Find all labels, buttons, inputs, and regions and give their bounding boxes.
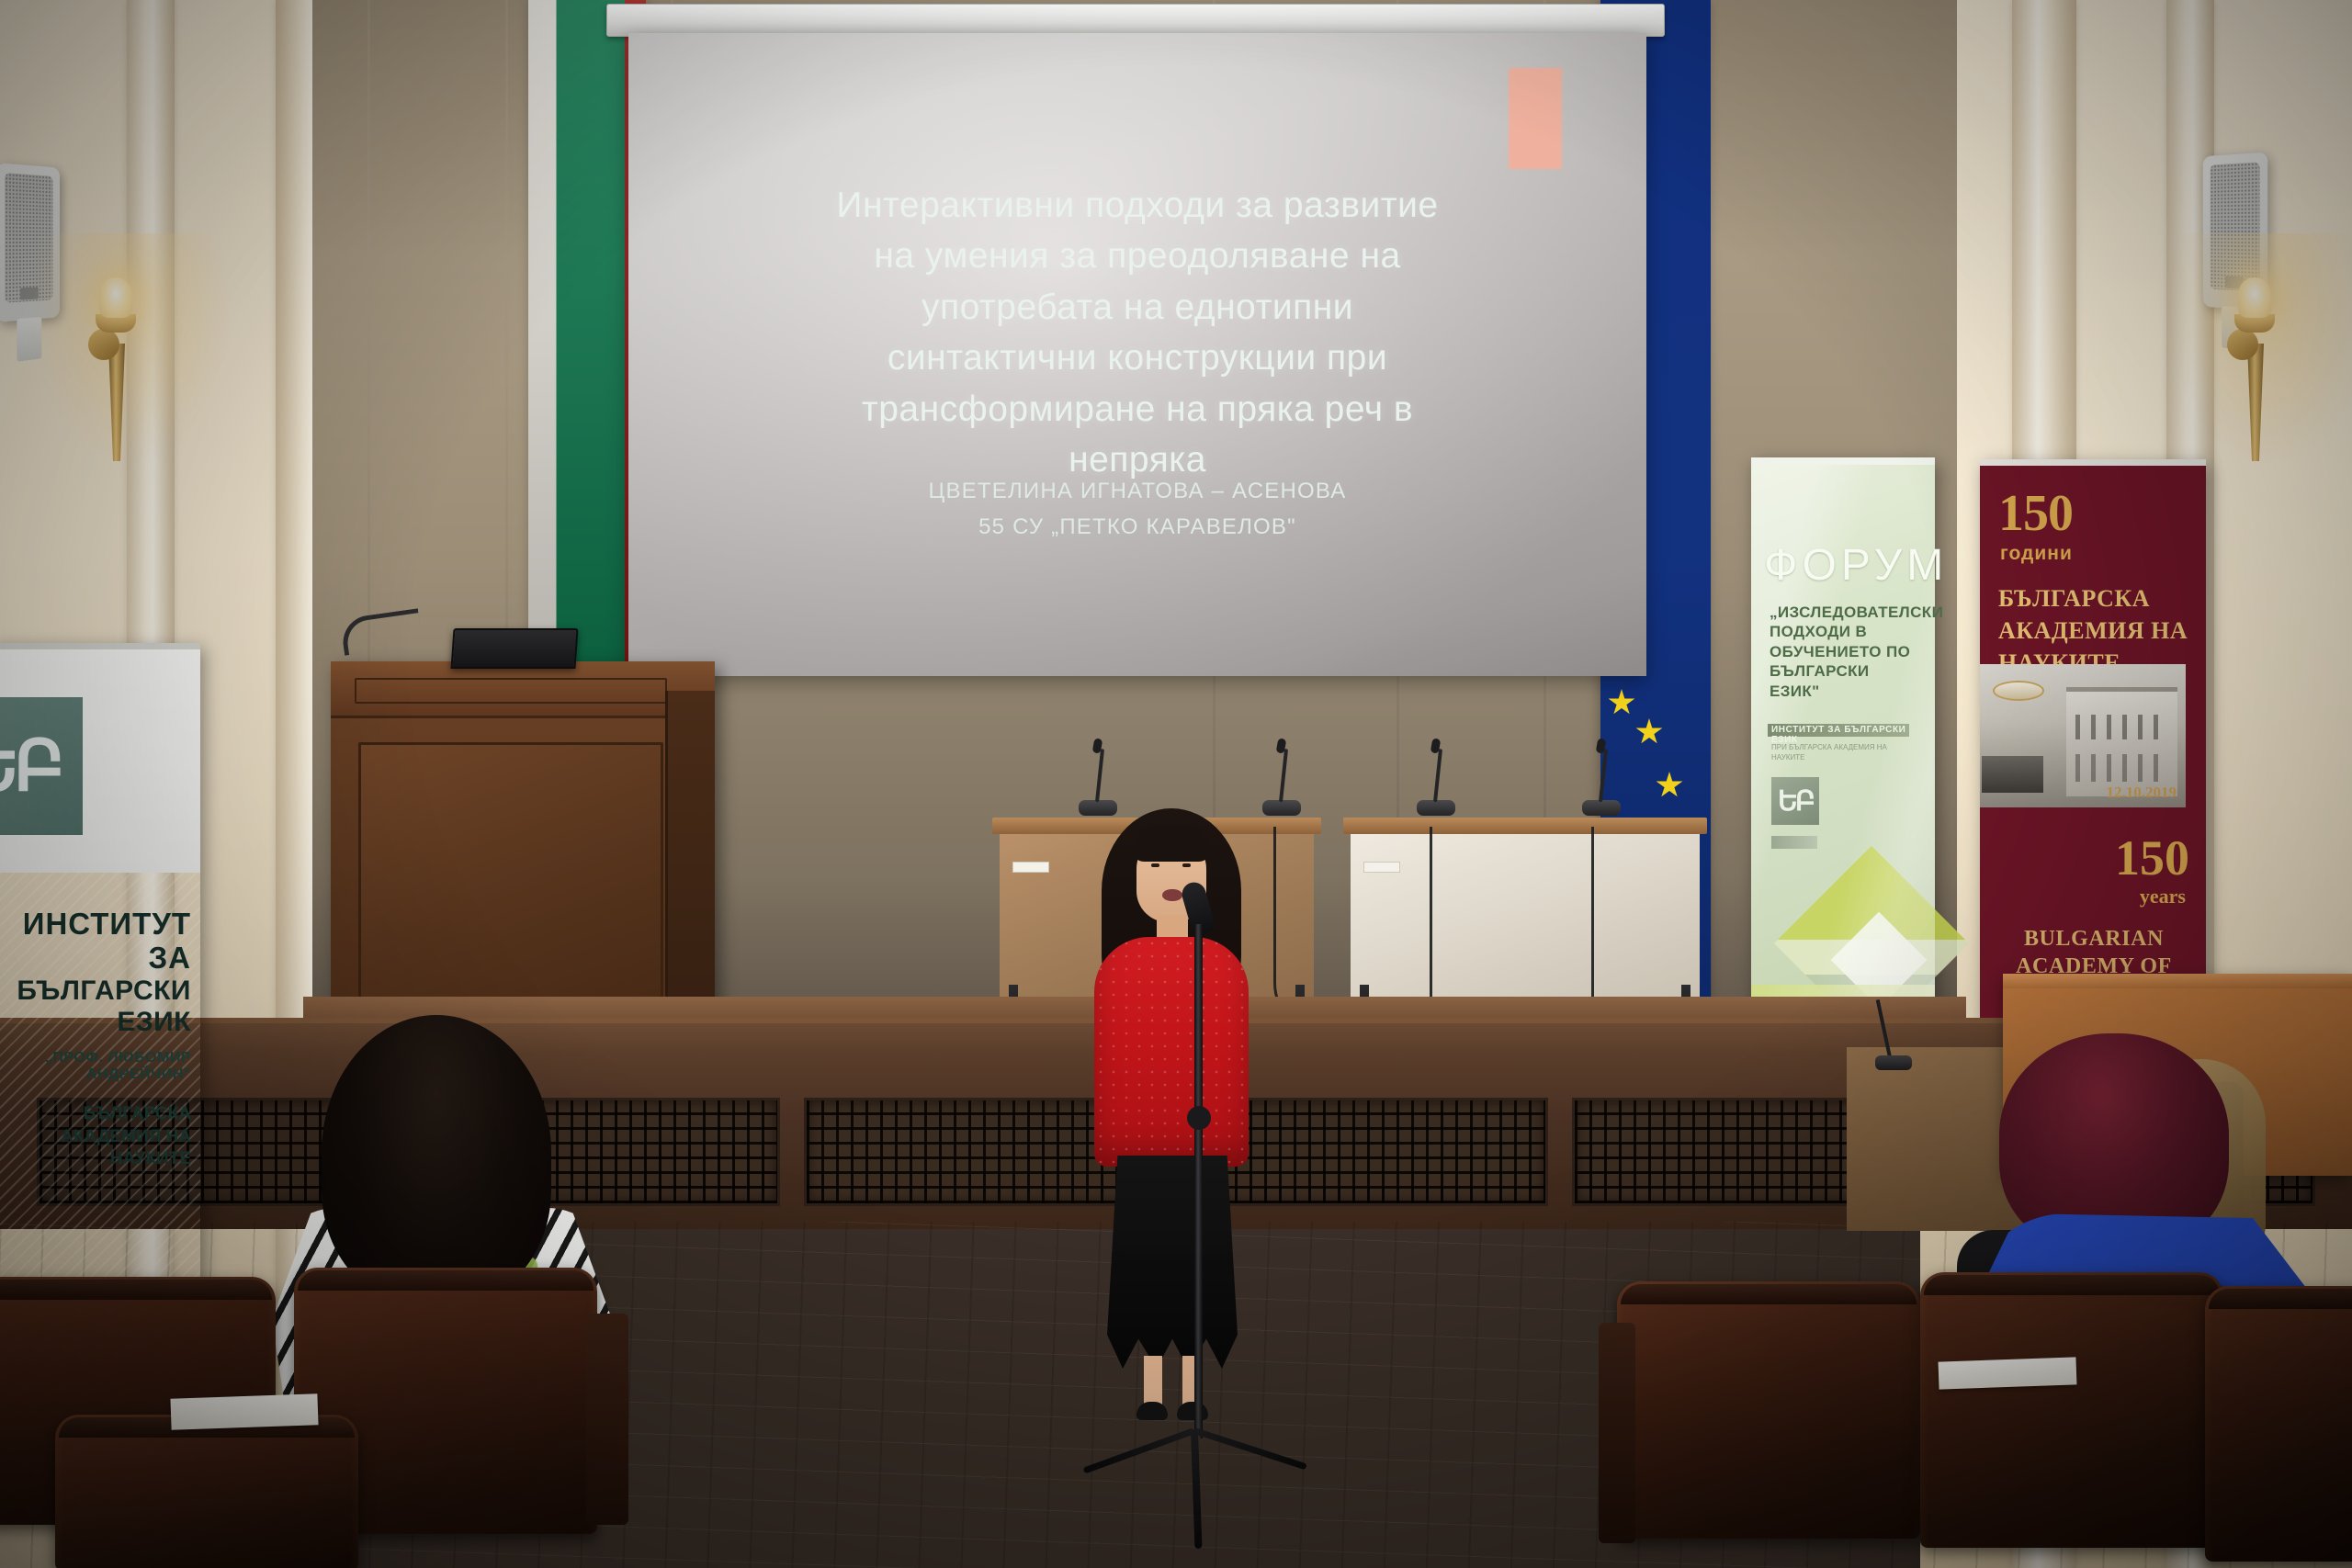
seat-armrest (1599, 1323, 1635, 1543)
gooseneck-microphone (1277, 761, 1284, 816)
banner-forum-title: ФОРУМ (1764, 540, 1926, 591)
presenter-red-top (1094, 937, 1249, 1167)
institute-logo-icon: ԵԲ (0, 697, 83, 835)
auditorium-seat (1920, 1272, 2223, 1548)
institute-line-1: ИНСТИТУТ (0, 908, 191, 942)
screen-roller-housing (606, 4, 1665, 37)
slide-affiliation: 55 СУ „ПЕТКО КАРАВЕЛОВ" (684, 510, 1591, 546)
slide-author: ЦВЕТЕЛИНА ИГНАТОВА – АСЕНОВА (684, 474, 1591, 510)
academy-event-date: 12.10.2019 (2107, 784, 2177, 802)
auditorium-seat (2205, 1286, 2352, 1562)
institute-line-2: ЗА (0, 942, 191, 976)
secondary-logo-icon (1771, 836, 1817, 849)
presenter-skirt (1107, 1156, 1238, 1369)
banner-forum: ФОРУМ „ИЗСЛЕДОВАТЕЛСКИ ПОДХОДИ В ОБУЧЕНИ… (1751, 457, 1935, 1009)
banner-forum-institute-sub: ПРИ БЪЛГАРСКА АКАДЕМИЯ НА НАУКИТЕ (1771, 743, 1913, 763)
seat-papers (170, 1393, 318, 1430)
presenter-laptop (450, 628, 578, 669)
institute-line-3: БЪЛГАРСКИ ЕЗИК (0, 976, 191, 1039)
ibl-logo-icon: ԵԲ (1771, 777, 1819, 825)
academy-anniversary-number-en: 150 (2115, 833, 2189, 883)
audience-right-hair (1999, 1033, 2229, 1245)
academy-anniversary-years-en: years (2140, 885, 2186, 908)
slide-decoration-rect (1509, 68, 1562, 169)
wall-sconce-left (88, 276, 141, 468)
wall-speaker-left (0, 163, 60, 322)
seat-armrest (586, 1314, 628, 1525)
banner-forum-subtitle: „ИЗСЛЕДОВАТЕЛСКИ ПОДХОДИ В ОБУЧЕНИЕТО ПО… (1770, 603, 1924, 701)
presenter (1080, 808, 1263, 1396)
institute-line-4: „ПРОФ. ЛЮБОМИР АНДРЕЙЧИН" (0, 1050, 191, 1083)
gooseneck-microphone (1597, 761, 1604, 816)
wall-sconce-right (2227, 276, 2280, 468)
institute-line-5: БЪЛГАРСКА АКАДЕМИЯ НА НАУКИТЕ (0, 1103, 191, 1171)
banner-forum-institute-band: ИНСТИТУТ ЗА БЪЛГАРСКИ ЕЗИК (1771, 725, 1935, 745)
academy-anniversary-years-bg: години (2000, 543, 2073, 565)
slide-subtitle: ЦВЕТЕЛИНА ИГНАТОВА – АСЕНОВА 55 СУ „ПЕТК… (684, 474, 1591, 546)
table-nameplate (1363, 862, 1400, 873)
seat-papers (1939, 1357, 2077, 1389)
banner-institute-left: ԵԲ ИНСТИТУТ ЗА БЪЛГАРСКИ ЕЗИК „ПРОФ. ЛЮБ… (0, 643, 200, 1286)
gooseneck-microphone (1431, 761, 1439, 816)
slide-title: Интерактивни подходи за развитие на умен… (684, 180, 1591, 485)
auditorium-seat (1617, 1281, 1920, 1539)
auditorium-seat (55, 1415, 358, 1568)
table-nameplate (1012, 862, 1049, 873)
microphone-stand (1194, 882, 1204, 1470)
academy-seal-icon (1993, 681, 2044, 701)
banner-academy: 150 години БЪЛГАРСКА АКАДЕМИЯ НА НАУКИТЕ… (1980, 459, 2206, 1021)
gooseneck-microphone (1093, 761, 1101, 816)
auditorium-scene: Интерактивни подходи за развитие на умен… (0, 0, 2352, 1568)
desk-microphone (1888, 1006, 1895, 1070)
projection-screen: Интерактивни подходи за развитие на умен… (628, 33, 1646, 676)
audience-left-hair (322, 1015, 551, 1300)
academy-building-photo: 12.10.2019 (1980, 664, 2186, 807)
academy-anniversary-number: 150 (1998, 488, 2073, 539)
